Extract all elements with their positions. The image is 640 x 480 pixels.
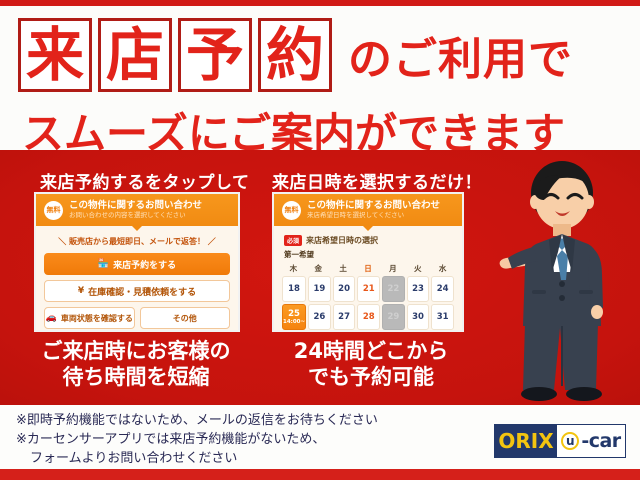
calendar-day-number: 24: [437, 284, 449, 294]
calendar-day-24[interactable]: 24: [431, 276, 454, 302]
calendar-heading: 必須 来店希望日時の選択: [284, 235, 454, 246]
salesman-illustration: [492, 148, 632, 406]
datepicker-header-title: この物件に関するお問い合わせ: [307, 200, 440, 211]
note-line-3: フォームよりお問い合わせください: [16, 449, 466, 468]
logo-car-text: -car: [581, 430, 620, 452]
calendar-weekday-土: 土: [332, 263, 355, 276]
logo-orix-text: ORIX: [495, 425, 557, 457]
footer-notes: ※即時予約機能ではないため、メールの返信をお待ちください ※カーセンサーアプリで…: [16, 411, 466, 468]
header-notch: [132, 226, 142, 231]
logo-u-circle-icon: u: [561, 432, 579, 450]
reserve-visit-button[interactable]: 🏪 来店予約をする: [44, 253, 230, 275]
inquiry-body: ＼ 販売店から最短即日、メールで返答！ ／ 🏪 来店予約をする ¥ 在庫確認・見…: [36, 226, 238, 332]
free-badge: 無料: [282, 201, 301, 220]
headline-tail-text: のご利用で: [348, 23, 573, 87]
datepicker-header-texts: この物件に関するお問い合わせ 来店希望日時を選択してください: [307, 200, 440, 220]
vehicle-condition-label: 車両状態を確認する: [61, 313, 133, 324]
calendar-day-20[interactable]: 20: [333, 276, 356, 302]
calendar-day-number: 27: [338, 312, 350, 322]
other-label: その他: [173, 313, 197, 324]
inquiry-header-texts: この物件に関するお問い合わせ お問い合わせの内容を選択してください: [69, 200, 202, 220]
calendar-day-23[interactable]: 23: [407, 276, 430, 302]
calendar-weekday-火: 火: [406, 263, 429, 276]
preference-label: 第一希望: [284, 249, 454, 260]
calendar-day-21[interactable]: 21: [357, 276, 380, 302]
stock-quote-button[interactable]: ¥ 在庫確認・見積依頼をする: [44, 280, 230, 302]
calendar-day-19[interactable]: 19: [308, 276, 331, 302]
benefit-left-line2: 待ち時間を短縮: [16, 364, 256, 390]
calendar-day-28[interactable]: 28: [357, 304, 380, 330]
headline-kanji-box-3: 予: [178, 18, 252, 92]
calendar-day-18[interactable]: 18: [282, 276, 306, 302]
benefit-caption-right: 24時間どこから でも予約可能: [266, 338, 476, 390]
yen-icon: ¥: [78, 286, 84, 296]
calendar-day-31[interactable]: 31: [431, 304, 454, 330]
calendar-day-number: 31: [437, 312, 449, 322]
headline-kanji-box-2: 店: [98, 18, 172, 92]
note-line-2: ※カーセンサーアプリでは来店予約機能がないため、: [16, 430, 466, 449]
calendar-day-number: 28: [363, 312, 375, 322]
promo-text: ＼ 販売店から最短即日、メールで返答！ ／: [44, 236, 230, 247]
vehicle-condition-button[interactable]: 🚗 車両状態を確認する: [44, 307, 135, 329]
calendar-day-22: 22: [382, 276, 405, 302]
calendar-day-number: 29: [387, 312, 399, 322]
screenshot-inquiry-menu: 無料 この物件に関するお問い合わせ お問い合わせの内容を選択してください ＼ 販…: [34, 192, 240, 332]
headline-block: 来 店 予 約 のご利用で スムーズにご案内ができます: [0, 6, 640, 150]
free-badge: 無料: [44, 201, 63, 220]
note-line-1: ※即時予約機能ではないため、メールの返信をお待ちください: [16, 411, 466, 430]
calendar-weekday-月: 月: [381, 263, 404, 276]
screenshot-date-picker: 無料 この物件に関するお問い合わせ 来店希望日時を選択してください 必須 来店希…: [272, 192, 464, 332]
logo-ucar-block: u -car: [557, 425, 625, 457]
calendar-day-number: 19: [314, 284, 326, 294]
benefit-left-line1: ご来店時にお客様の: [16, 338, 256, 364]
secondary-button-row: 🚗 車両状態を確認する その他: [44, 307, 230, 329]
calendar-weekday-水: 水: [431, 263, 454, 276]
inquiry-header-title: この物件に関するお問い合わせ: [69, 200, 202, 211]
reserve-visit-label: 来店予約をする: [113, 258, 176, 271]
benefit-right-line2: でも予約可能: [266, 364, 476, 390]
calendar-day-grid[interactable]: 181920212223242514:00~262728293031: [282, 276, 454, 330]
calendar-weekday-row: 木金土日月火水: [282, 263, 454, 276]
calendar-day-27[interactable]: 27: [333, 304, 356, 330]
datepicker-header-subtitle: 来店希望日時を選択してください: [307, 211, 440, 220]
inquiry-header-bar: 無料 この物件に関するお問い合わせ お問い合わせの内容を選択してください: [36, 194, 238, 226]
required-badge: 必須: [284, 235, 302, 246]
car-icon: 🚗: [46, 313, 57, 323]
calendar-day-29: 29: [382, 304, 405, 330]
orix-ucar-logo: ORIX u -car: [494, 424, 626, 458]
headline-line-1: 来 店 予 約 のご利用で: [18, 18, 573, 92]
section-title-right: 来店日時を選択するだけ！: [272, 168, 482, 193]
datepicker-body: 必須 来店希望日時の選択 第一希望 木金土日月火水 18192021222324…: [274, 226, 462, 332]
calendar-day-number: 22: [387, 284, 399, 294]
header-notch: [363, 226, 373, 231]
benefit-right-line1: 24時間どこから: [266, 338, 476, 364]
calendar-day-25[interactable]: 2514:00~: [282, 304, 306, 330]
inquiry-header-subtitle: お問い合わせの内容を選択してください: [69, 211, 202, 220]
section-title-left: 来店予約するをタップして: [40, 168, 250, 193]
calendar-day-time: 14:00~: [283, 319, 305, 325]
datepicker-header-bar: 無料 この物件に関するお問い合わせ 来店希望日時を選択してください: [274, 194, 462, 226]
calendar-day-number: 30: [412, 312, 424, 322]
benefit-caption-left: ご来店時にお客様の 待ち時間を短縮: [16, 338, 256, 390]
calendar-weekday-日: 日: [357, 263, 380, 276]
calendar-weekday-木: 木: [282, 263, 305, 276]
store-icon: 🏪: [98, 259, 109, 269]
calendar-weekday-金: 金: [307, 263, 330, 276]
headline-kanji-box-1: 来: [18, 18, 92, 92]
calendar-day-number: 18: [288, 284, 300, 294]
calendar-day-number: 25: [288, 309, 300, 319]
calendar-day-number: 26: [314, 312, 326, 322]
calendar-heading-label: 来店希望日時の選択: [306, 235, 378, 246]
headline-kanji-box-4: 約: [258, 18, 332, 92]
calendar-day-26[interactable]: 26: [308, 304, 331, 330]
calendar-day-number: 21: [363, 284, 375, 294]
advertisement-banner: 来 店 予 約 のご利用で スムーズにご案内ができます 来店予約するをタップして…: [0, 0, 640, 480]
other-button[interactable]: その他: [140, 307, 231, 329]
calendar-day-30[interactable]: 30: [407, 304, 430, 330]
stock-quote-label: 在庫確認・見積依頼をする: [88, 285, 196, 298]
bottom-red-rule: [0, 469, 640, 480]
calendar-day-number: 23: [412, 284, 424, 294]
calendar-day-number: 20: [338, 284, 350, 294]
